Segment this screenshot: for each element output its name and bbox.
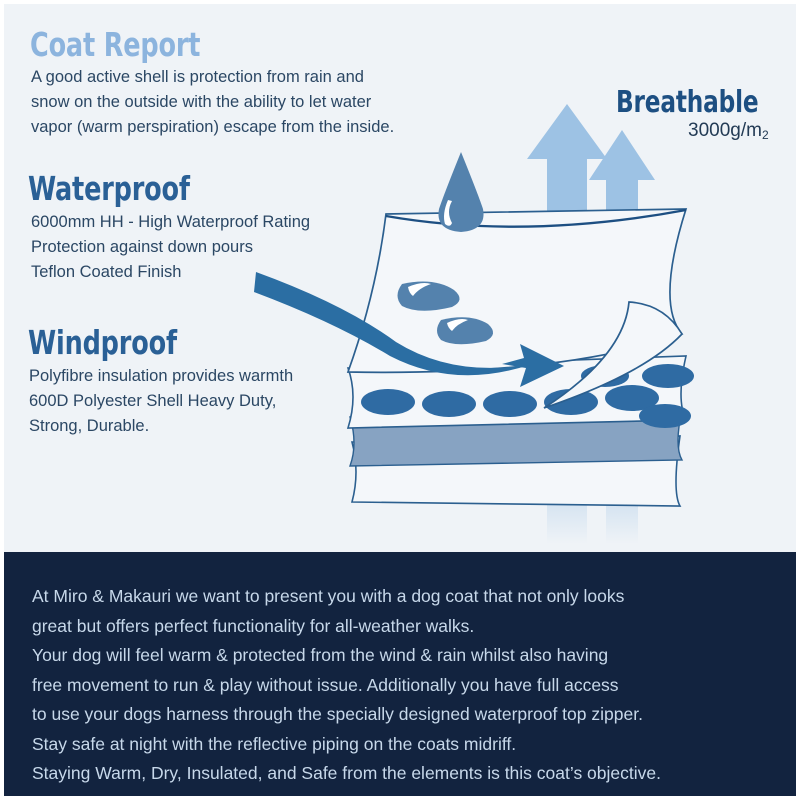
windproof-line: 600D Polyester Shell Heavy Duty,	[29, 389, 293, 414]
intro-line: vapor (warm perspiration) escape from th…	[31, 115, 394, 140]
breathable-rating-sub: 2	[762, 128, 769, 142]
intro-paragraph: A good active shell is protection from r…	[31, 65, 394, 140]
waterproof-line: 6000mm HH - High Waterproof Rating	[31, 210, 310, 235]
brand-line: Your dog will feel warm & protected from…	[32, 641, 661, 671]
windproof-line: Strong, Durable.	[29, 414, 293, 439]
windproof-heading: Windproof	[28, 326, 177, 359]
waterproof-heading: Waterproof	[28, 172, 190, 205]
brand-line: to use your dogs harness through the spe…	[32, 700, 661, 730]
brand-description: At Miro & Makauri we want to present you…	[32, 582, 661, 789]
windproof-details: Polyfibre insulation provides warmth 600…	[29, 364, 293, 439]
coat-report-infographic: Coat Report A good active shell is prote…	[0, 0, 800, 800]
brand-line: free movement to run & play without issu…	[32, 671, 661, 701]
brand-line: great but offers perfect functionality f…	[32, 612, 661, 642]
bottom-panel: At Miro & Makauri we want to present you…	[4, 552, 796, 796]
top-panel: Coat Report A good active shell is prote…	[4, 4, 796, 552]
page-title: Coat Report	[30, 28, 200, 61]
breathable-heading: Breathable	[616, 88, 758, 118]
intro-line: A good active shell is protection from r…	[31, 65, 394, 90]
windproof-line: Polyfibre insulation provides warmth	[29, 364, 293, 389]
waterproof-line: Teflon Coated Finish	[31, 260, 310, 285]
intro-line: snow on the outside with the ability to …	[31, 90, 394, 115]
brand-line: At Miro & Makauri we want to present you…	[32, 582, 661, 612]
brand-line: Stay safe at night with the reflective p…	[32, 730, 661, 760]
brand-line: Staying Warm, Dry, Insulated, and Safe f…	[32, 759, 661, 789]
waterproof-details: 6000mm HH - High Waterproof Rating Prote…	[31, 210, 310, 285]
water-droplet-icon	[438, 152, 483, 232]
breathable-rating: 3000g/m2	[688, 120, 769, 142]
waterproof-line: Protection against down pours	[31, 235, 310, 260]
breathable-rating-value: 3000g/m	[688, 120, 762, 141]
